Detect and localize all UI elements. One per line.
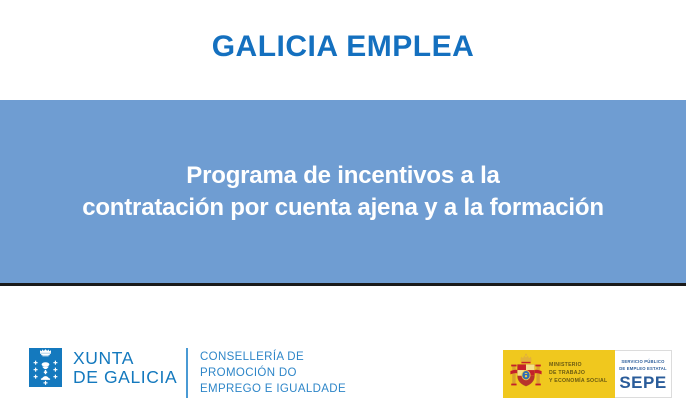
spain-coat-of-arms-icon xyxy=(508,353,544,396)
consellaria-text: CONSELLERÍA DE PROMOCIÓN DO EMPREGO E IG… xyxy=(200,350,346,397)
sepe-subtitle-line-1: SERVICIO PÚBLICO xyxy=(619,359,667,365)
program-banner-text: Programa de incentivos a la contratación… xyxy=(23,160,663,223)
xunta-wordmark-line-1: XUNTA xyxy=(73,349,177,368)
program-banner: Programa de incentivos a la contratación… xyxy=(0,100,686,283)
xunta-wordmark-line-2: DE GALICIA xyxy=(73,368,177,387)
xunta-de-galicia-logo: XUNTA DE GALICIA xyxy=(29,348,177,387)
xunta-coat-of-arms-icon xyxy=(29,348,62,387)
ministerio-line-3: Y ECONOMÍA SOCIAL xyxy=(549,378,607,386)
poster-page: GALICIA EMPLEA Programa de incentivos a … xyxy=(0,0,686,410)
government-logos: MINISTERIO DE TRABAJO Y ECONOMÍA SOCIAL … xyxy=(503,350,672,398)
xunta-wordmark: XUNTA DE GALICIA xyxy=(73,349,177,386)
consellaria-line-2: PROMOCIÓN DO xyxy=(200,366,346,382)
sepe-logo: SERVICIO PÚBLICO DE EMPLEO ESTATAL SEPE xyxy=(615,350,672,398)
program-banner-line-1: Programa de incentivos a la xyxy=(23,160,663,192)
title-area: GALICIA EMPLEA xyxy=(0,0,686,100)
consellaria-line-3: EMPREGO E IGUALDADE xyxy=(200,382,346,398)
program-banner-line-2: contratación por cuenta ajena y a la for… xyxy=(23,192,663,224)
ministerio-logo: MINISTERIO DE TRABAJO Y ECONOMÍA SOCIAL xyxy=(503,350,615,398)
logo-divider xyxy=(186,348,188,398)
sepe-subtitle: SERVICIO PÚBLICO DE EMPLEO ESTATAL xyxy=(619,359,667,371)
consellaria-line-1: CONSELLERÍA DE xyxy=(200,350,346,366)
footer: XUNTA DE GALICIA CONSELLERÍA DE PROMOCIÓ… xyxy=(0,286,686,410)
ministerio-line-1: MINISTERIO xyxy=(549,362,607,370)
ministerio-line-2: DE TRABAJO xyxy=(549,370,607,378)
ministerio-wordmark: MINISTERIO DE TRABAJO Y ECONOMÍA SOCIAL xyxy=(549,362,607,385)
sepe-subtitle-line-2: DE EMPLEO ESTATAL xyxy=(619,366,667,372)
sepe-acronym: SEPE xyxy=(619,374,666,391)
page-title: GALICIA EMPLEA xyxy=(212,32,475,62)
